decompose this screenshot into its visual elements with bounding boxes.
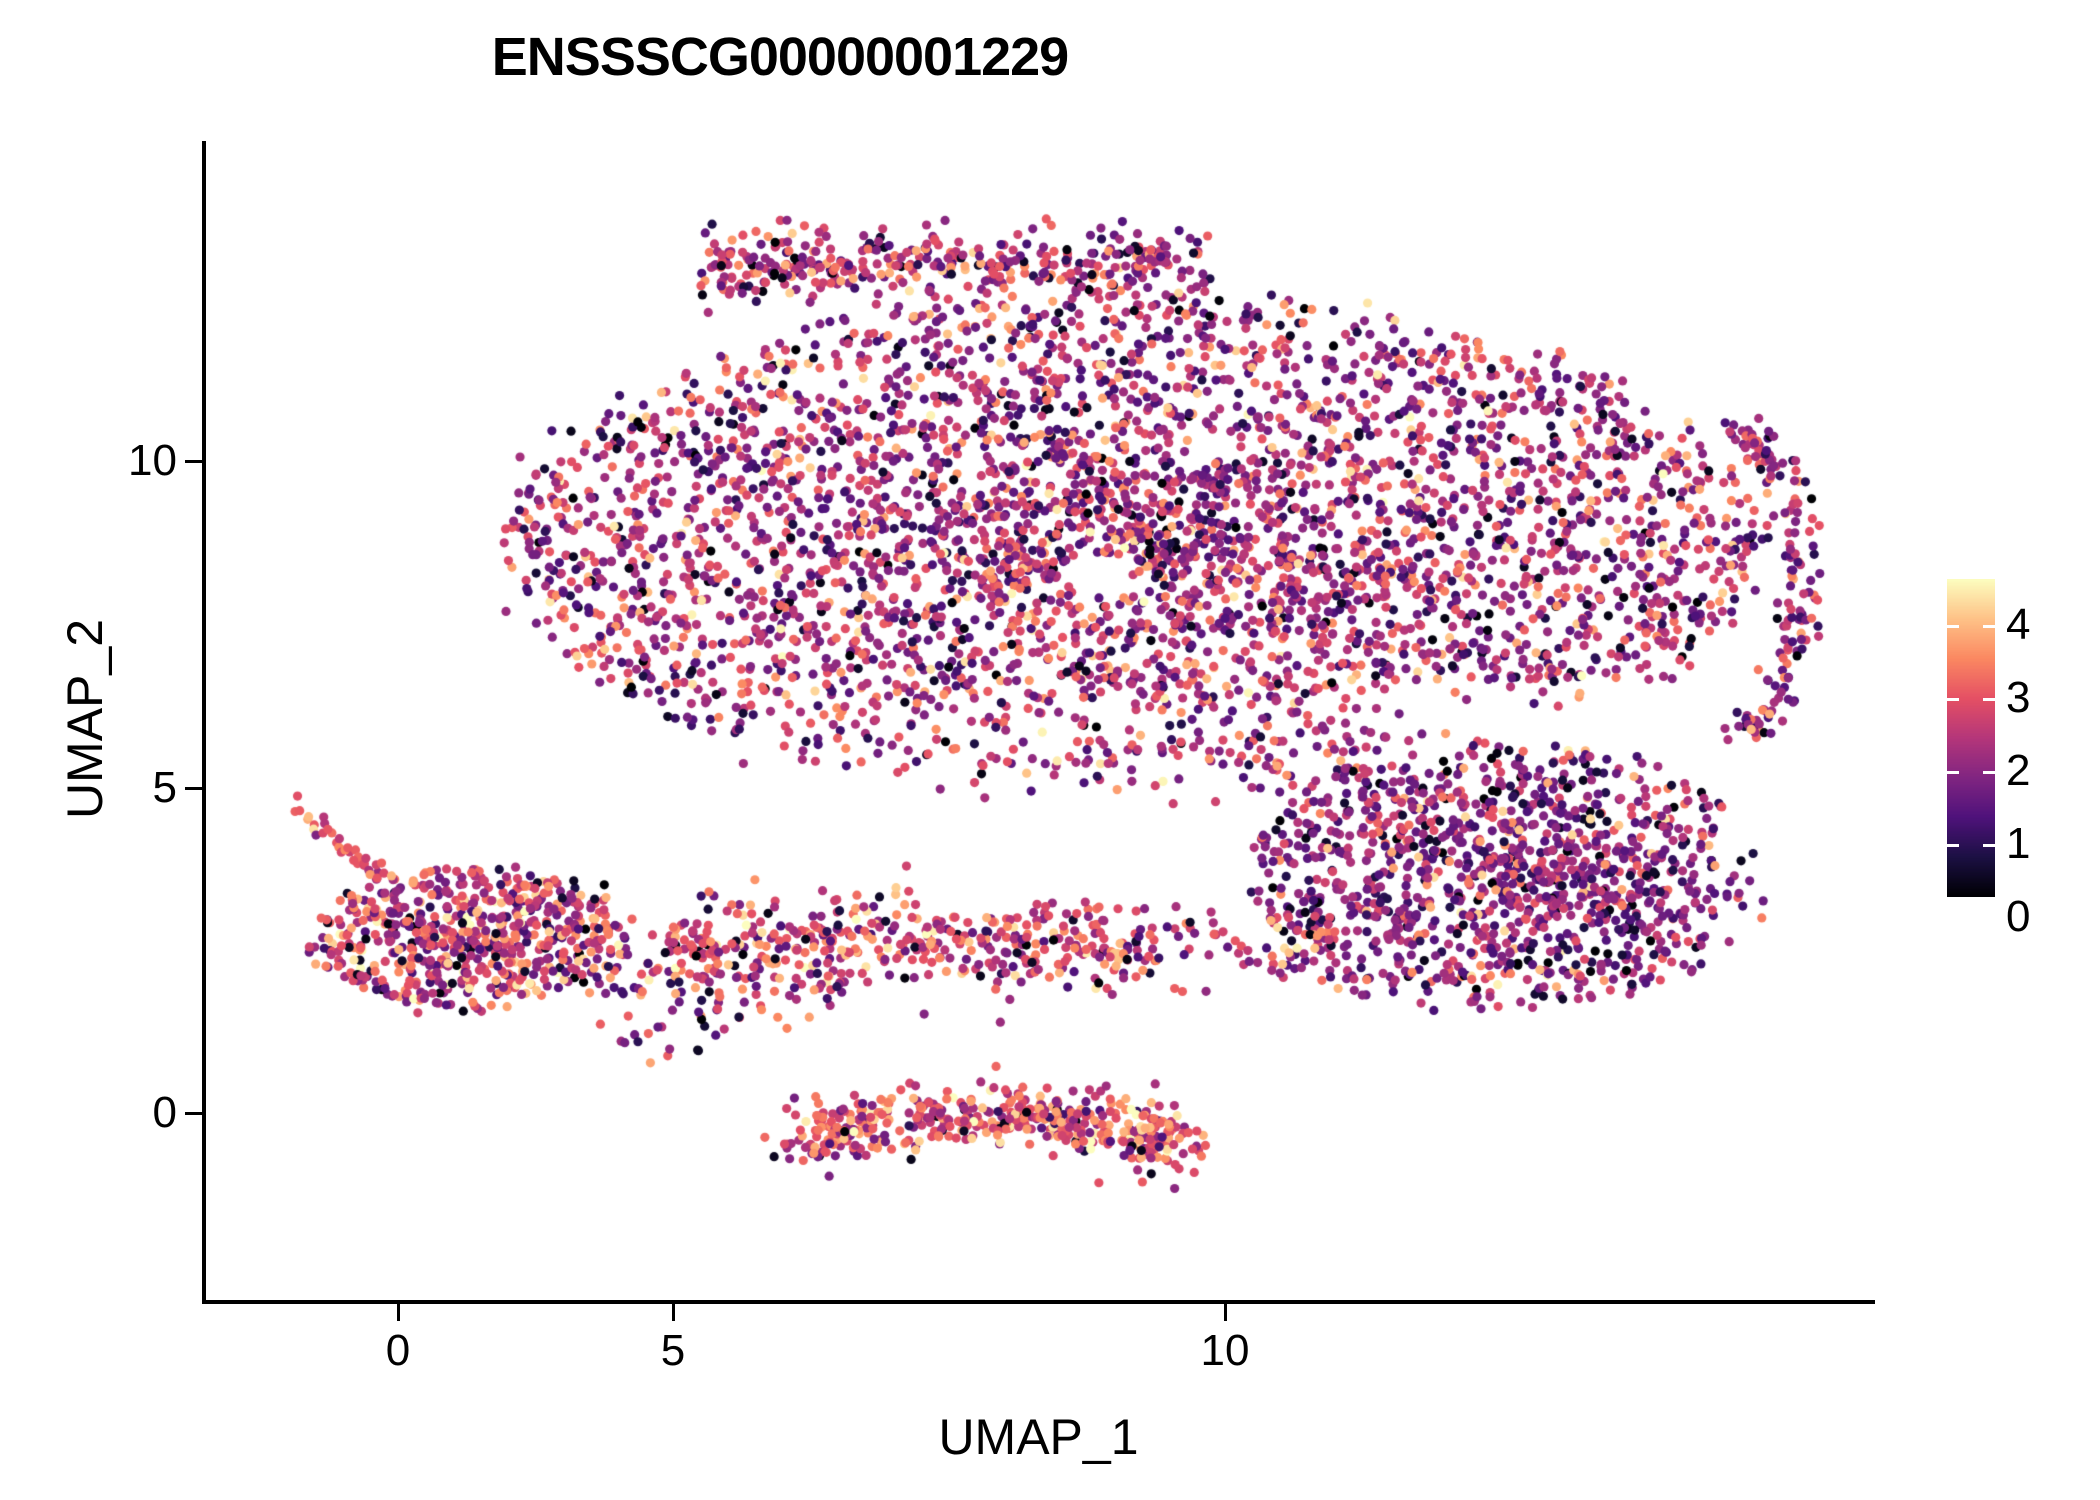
x-tick-label-10: 10: [1155, 1326, 1295, 1376]
x-axis-title: UMAP_1: [204, 1408, 1873, 1466]
colorbar-tick-3-right: [1983, 698, 1995, 701]
colorbar-label-4: 4: [2006, 603, 2030, 647]
colorbar-label-1: 1: [2006, 822, 2030, 866]
colorbar-label-0: 0: [2006, 895, 2030, 939]
y-tick-mark-0: [185, 1112, 202, 1115]
x-axis-line: [202, 1300, 1875, 1304]
x-tick-mark-0: [397, 1304, 400, 1321]
x-tick-mark-5: [672, 1304, 675, 1321]
y-axis-title: UMAP_2: [56, 369, 114, 1069]
colorbar-tick-1-right: [1983, 844, 1995, 847]
scatter-points-canvas: [204, 141, 1873, 1302]
x-tick-mark-10: [1224, 1304, 1227, 1321]
x-tick-label-5: 5: [603, 1326, 743, 1376]
y-axis-line: [202, 141, 206, 1304]
colorbar-tick-2-left: [1947, 771, 1959, 774]
colorbar-tick-3-left: [1947, 698, 1959, 701]
colorbar-tick-2-right: [1983, 771, 1995, 774]
colorbar-tick-1-left: [1947, 844, 1959, 847]
y-tick-label-0: 0: [17, 1088, 177, 1138]
umap-feature-plot: ENSSSCG00000001229 0 5 10 0 5 10 UMAP_1 …: [0, 0, 2100, 1500]
plot-panel: [204, 141, 1873, 1302]
colorbar-label-2: 2: [2006, 749, 2030, 793]
x-tick-label-0: 0: [328, 1326, 468, 1376]
page-title: ENSSSCG00000001229: [0, 26, 1560, 88]
y-tick-mark-10: [185, 460, 202, 463]
colorbar-label-3: 3: [2006, 676, 2030, 720]
colorbar-tick-4-left: [1947, 625, 1959, 628]
colorbar-tick-4-right: [1983, 625, 1995, 628]
y-tick-mark-5: [185, 787, 202, 790]
colorbar-legend: 4 3 2 1 0: [1930, 560, 2090, 920]
